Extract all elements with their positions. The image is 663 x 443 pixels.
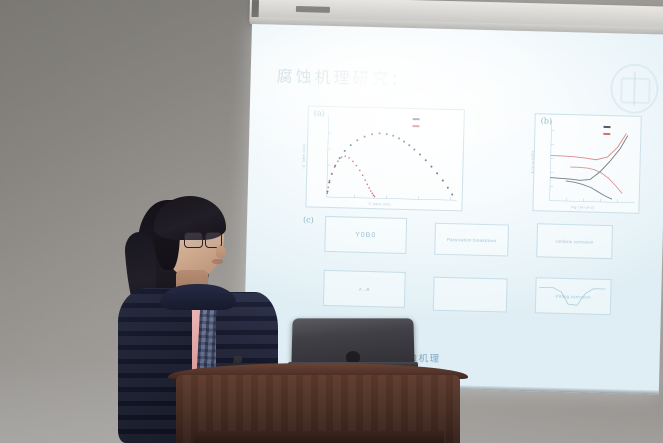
slide-title: 腐蚀机理研究： (276, 63, 410, 90)
university-seal-icon (610, 63, 659, 114)
chart-panel-a: (a) -Z'' (ohm cm2) Z' (ohm (305, 105, 465, 211)
screen-brand-badge (296, 6, 330, 13)
presenter-lips (212, 259, 223, 264)
panel-c-box-3: Uniform corrosion (536, 223, 613, 259)
lectern (168, 363, 468, 443)
lectern-base (194, 431, 444, 443)
panel-c-pit-profile (535, 277, 610, 313)
panel-a-ylabel: -Z'' (ohm cm2) (302, 144, 307, 169)
panel-c-tag: (c) (303, 215, 314, 224)
panel-b-legend-2 (603, 132, 612, 136)
presenter-nose (216, 246, 226, 258)
panel-c-box-2: Passivation breakdown (434, 223, 509, 257)
presentation-photo-scene: 腐蚀机理研究： (a) (0, 0, 663, 443)
panel-a-plot (306, 106, 463, 210)
panel-a-legend-1 (413, 117, 422, 121)
panel-a-legend-2 (412, 124, 421, 128)
projection-screen-end-cap (252, 0, 259, 17)
presenter-jacket-collar (160, 284, 236, 310)
panel-b-xlabel: log i (A cm-2) (571, 205, 594, 210)
panel-c-box-5 (433, 277, 508, 313)
glasses-left-lens (184, 232, 203, 248)
panel-b-plot (533, 114, 640, 213)
panel-c-box-4: A→B (323, 270, 406, 308)
panel-b-legend-1 (603, 125, 612, 129)
panel-a-xlabel: Z' (ohm cm2) (368, 202, 390, 207)
laptop-lid (291, 318, 414, 368)
chart-panel-b: (b) E (V vs SCE) log i ( (532, 113, 641, 214)
panel-c-box-1: Y0B0 (324, 216, 407, 254)
panel-b-ylabel: E (V vs SCE) (530, 151, 535, 173)
